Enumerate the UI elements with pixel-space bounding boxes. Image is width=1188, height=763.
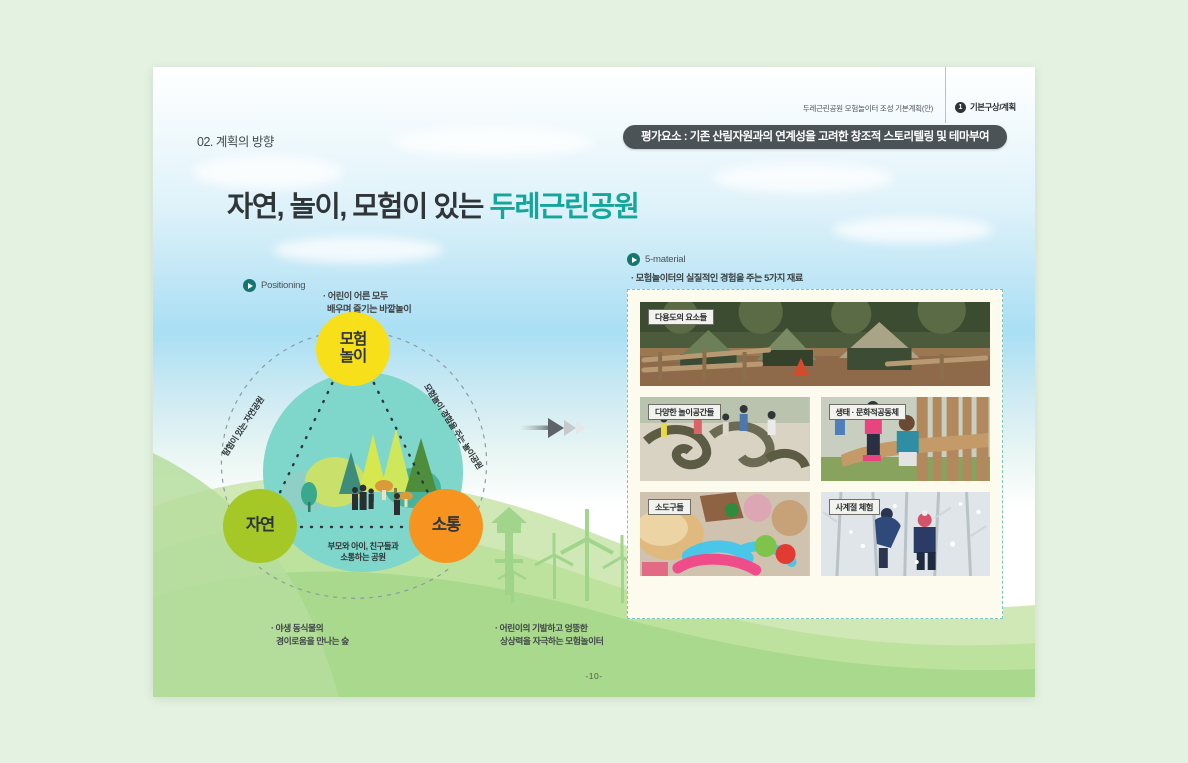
photo-card: 사계절 체험 [821, 492, 991, 576]
header-divider [945, 67, 946, 123]
nature-note: · 야생 동식물의 경이로움을 만나는 숲 [271, 622, 349, 648]
photo-caption: 다용도의 요소들 [648, 309, 714, 325]
play-circle-icon [627, 253, 640, 266]
photo-card: 다용도의 요소들 [640, 302, 990, 386]
venn-node-adventure: 모험 놀이 [316, 312, 390, 386]
material-subtitle: · 모험놀이터의 실질적인 경험을 주는 5가지 재료 [631, 270, 803, 284]
breadcrumb-number-badge: 1 [955, 102, 966, 113]
photo-row: 다양한 놀이공간들 [640, 397, 990, 481]
breadcrumb: 1 기본구상/계획 [955, 101, 1016, 113]
breadcrumb-label: 기본구상/계획 [970, 101, 1016, 113]
photo-card: 생태 · 문화적공동체 [821, 397, 991, 481]
nature-note-line2: 경이로움을 만나는 숲 [271, 635, 349, 648]
material-heading: 5-material [627, 253, 685, 266]
node-adventure-line1: 모험 [340, 332, 367, 349]
node-adventure-line2: 놀이 [340, 349, 367, 366]
document-title: 두레근린공원 모험놀이터 조성 기본계획(안) [653, 103, 933, 114]
communication-note-line2: 상상력을 자극하는 모험놀이터 [495, 635, 603, 648]
photo-row: 소도구들 [640, 492, 990, 576]
photo-card: 다양한 놀이공간들 [640, 397, 810, 481]
material-photo-panel: 다용도의 요소들 [627, 289, 1003, 619]
photo-caption: 소도구들 [648, 499, 691, 515]
venn-edge-bottom-line2: 소통하는 공원 [281, 552, 445, 563]
slide-frame: 두레근린공원 모험놀이터 조성 기본계획(안) 1 기본구상/계획 02. 계획… [153, 67, 1035, 697]
venn-edge-bottom-line1: 부모와 아이, 친구들과 [281, 541, 445, 552]
positioning-note-line1: · 어린이 어른 모두 [323, 290, 411, 303]
page-number: -10- [153, 671, 1035, 681]
page-title: 자연, 놀이, 모험이 있는 두레근린공원 [227, 184, 638, 225]
photo-caption: 생태 · 문화적공동체 [829, 404, 906, 420]
play-circle-icon [243, 279, 256, 292]
title-accent: 두레근린공원 [490, 191, 639, 223]
material-label: 5-material [645, 254, 685, 265]
communication-note: · 어린이의 기발하고 엉뚱한 상상력을 자극하는 모험놀이터 [495, 622, 603, 648]
section-number: 02. 계획의 방향 [197, 131, 274, 150]
positioning-heading: Positioning [243, 279, 305, 292]
photo-caption: 다양한 놀이공간들 [648, 404, 721, 420]
flow-arrow-icon [520, 413, 592, 443]
positioning-note: · 어린이 어른 모두 배우며 즐기는 바깥놀이 [323, 290, 411, 317]
positioning-venn-diagram: 모험 놀이 자연 소통 탐험이 있는 자연공원 모험놀이 경험을 주는 놀이공원… [213, 317, 513, 617]
node-communication-label: 소통 [432, 517, 460, 535]
title-plain: 자연, 놀이, 모험이 있는 [227, 191, 490, 223]
communication-note-line1: · 어린이의 기발하고 엉뚱한 [495, 622, 603, 635]
nature-note-line1: · 야생 동식물의 [271, 622, 349, 635]
photo-card: 소도구들 [640, 492, 810, 576]
venn-edge-label-bottom: 부모와 아이, 친구들과 소통하는 공원 [281, 541, 445, 563]
node-nature-label: 자연 [246, 517, 274, 535]
positioning-label: Positioning [261, 280, 305, 291]
photo-caption: 사계절 체험 [829, 499, 881, 515]
evaluation-pill: 평가요소 : 기존 산림자원과의 연계성을 고려한 창조적 스토리텔링 및 테마… [623, 125, 1007, 149]
